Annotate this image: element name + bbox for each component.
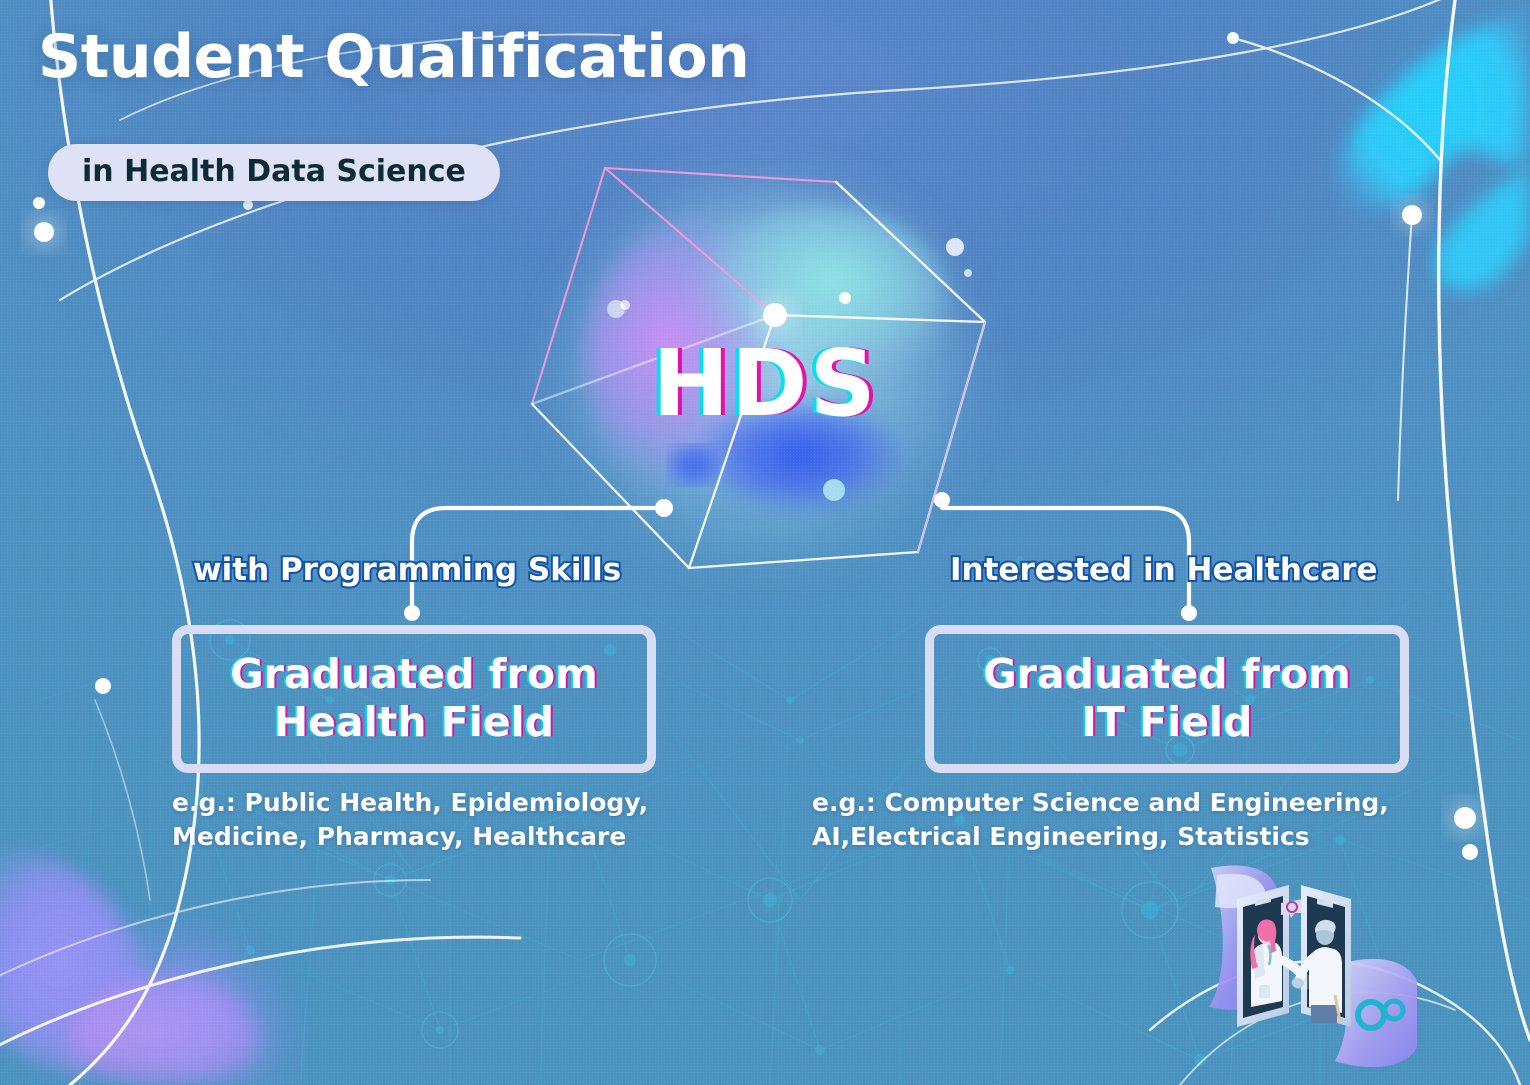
connector-left-endpoint — [404, 605, 420, 621]
poster-canvas: Student Qualification in Health Data Sci… — [0, 0, 1530, 1085]
branch-caption-right: Interested in Healthcare — [950, 552, 1378, 588]
subtitle-pill: in Health Data Science — [48, 144, 500, 201]
examples-health: e.g.: Public Health, Epidemiology,Medici… — [172, 786, 732, 854]
subtitle-text: in Health Data Science — [82, 154, 466, 189]
field-box-health: Graduated from Health Field — [172, 625, 656, 773]
page-title: Student Qualification — [38, 22, 749, 92]
field-box-health-line1: Graduated from — [230, 651, 598, 699]
examples-it: e.g.: Computer Science and Engineering,A… — [812, 786, 1472, 854]
telemedicine-illustration — [1185, 855, 1450, 1070]
field-box-it-line2: IT Field — [1082, 699, 1253, 747]
cyan-blob-top-right — [1339, 0, 1530, 290]
connector-right-endpoint — [1181, 605, 1197, 621]
field-box-it-line1: Graduated from — [983, 651, 1351, 699]
branch-caption-left: with Programming Skills — [193, 552, 621, 588]
center-label-hds: HDS — [0, 330, 1530, 437]
field-box-it: Graduated from IT Field — [925, 625, 1409, 773]
field-box-health-line2: Health Field — [274, 699, 554, 747]
purple-blob-bottom-left — [0, 852, 291, 1085]
